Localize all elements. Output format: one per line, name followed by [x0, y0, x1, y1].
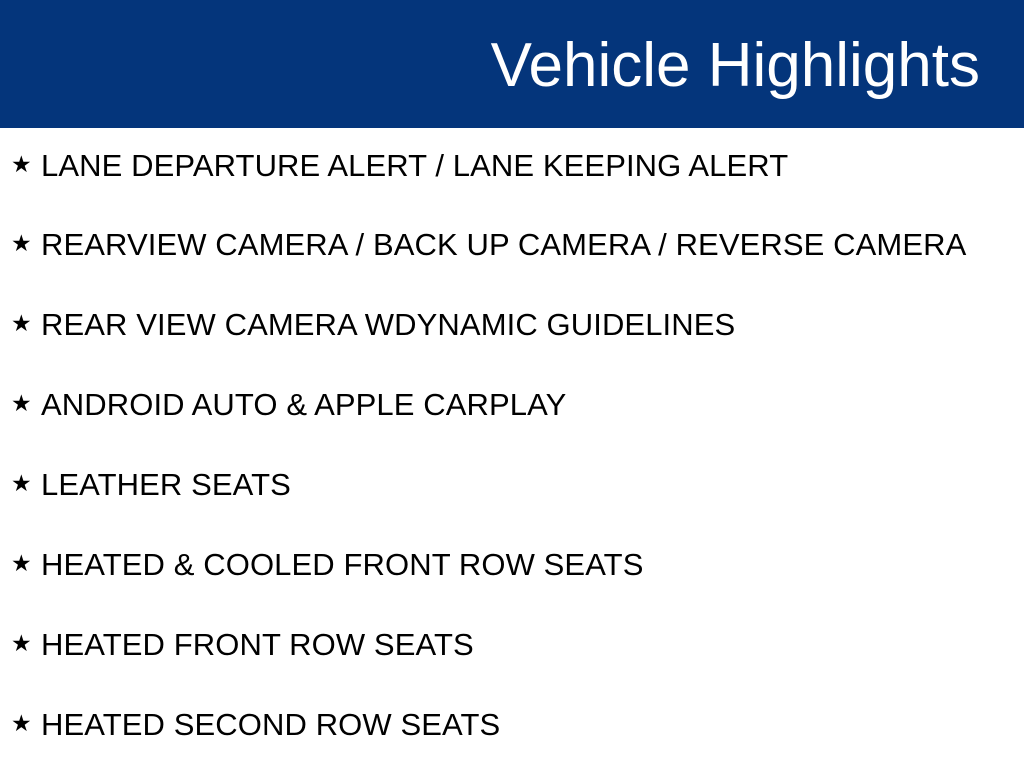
star-icon: ★: [11, 304, 41, 344]
feature-label: LEATHER SEATS: [41, 465, 291, 505]
list-item: ★ REAR VIEW CAMERA WDYNAMIC GUIDELINES: [11, 305, 735, 345]
feature-label: ANDROID AUTO & APPLE CARPLAY: [41, 385, 566, 425]
list-item: ★ REARVIEW CAMERA / BACK UP CAMERA / REV…: [11, 225, 966, 265]
star-icon: ★: [11, 704, 41, 744]
star-icon: ★: [11, 384, 41, 424]
star-icon: ★: [11, 145, 41, 185]
star-icon: ★: [11, 544, 41, 584]
feature-label: HEATED & COOLED FRONT ROW SEATS: [41, 545, 644, 585]
list-item: ★ LEATHER SEATS: [11, 465, 291, 505]
feature-label: HEATED FRONT ROW SEATS: [41, 625, 474, 665]
star-icon: ★: [11, 224, 41, 264]
list-item: ★ ANDROID AUTO & APPLE CARPLAY: [11, 385, 566, 425]
list-item: ★ HEATED & COOLED FRONT ROW SEATS: [11, 545, 644, 585]
list-item: ★ HEATED FRONT ROW SEATS: [11, 625, 474, 665]
feature-label: LANE DEPARTURE ALERT / LANE KEEPING ALER…: [41, 146, 788, 186]
feature-label: REARVIEW CAMERA / BACK UP CAMERA / REVER…: [41, 225, 966, 265]
page-title: Vehicle Highlights: [491, 35, 980, 97]
feature-label: HEATED SECOND ROW SEATS: [41, 705, 500, 745]
list-item: ★ HEATED SECOND ROW SEATS: [11, 705, 500, 745]
star-icon: ★: [11, 624, 41, 664]
vehicle-features-list: ★ LANE DEPARTURE ALERT / LANE KEEPING AL…: [0, 128, 1024, 768]
header-banner: Vehicle Highlights: [0, 0, 1024, 128]
feature-label: REAR VIEW CAMERA WDYNAMIC GUIDELINES: [41, 305, 735, 345]
star-icon: ★: [11, 464, 41, 504]
list-item: ★ LANE DEPARTURE ALERT / LANE KEEPING AL…: [11, 146, 788, 186]
vehicle-highlights-slide: Vehicle Highlights ★ LANE DEPARTURE ALER…: [0, 0, 1024, 768]
